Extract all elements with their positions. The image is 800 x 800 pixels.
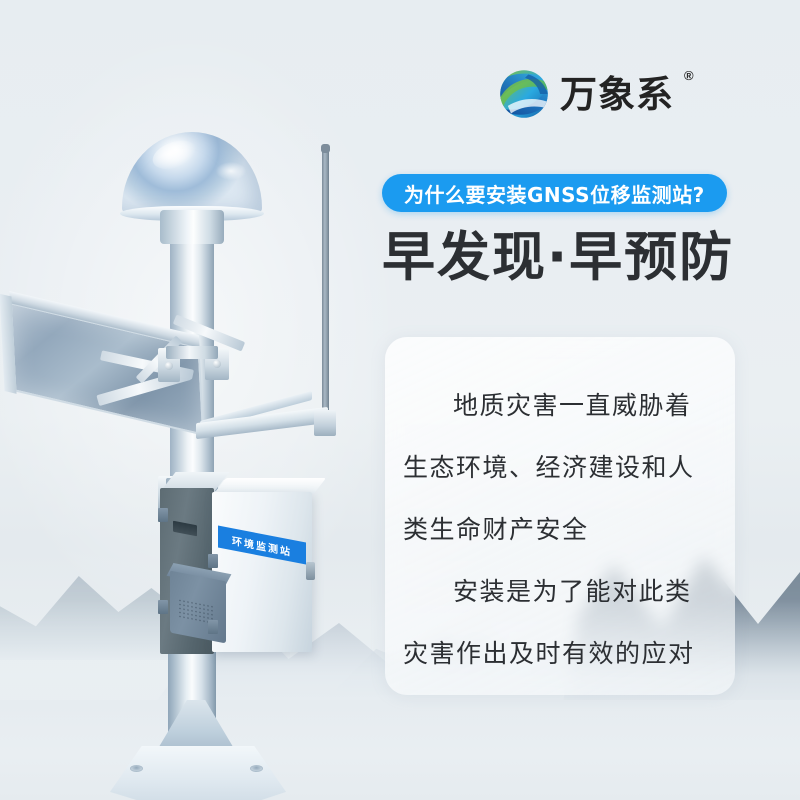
description-lines: 地质灾害一直威胁着生态环境、经济建设和人类生命财产安全安装是为了能对此类灾害作出… [385,337,735,695]
description-line: 生态环境、经济建设和人 [403,437,717,499]
question-badge-text: 为什么要安装GNSS位移监测站? [404,179,705,208]
page-title: 早发现·早预防 [382,228,734,289]
question-badge: 为什么要安装GNSS位移监测站? [382,174,727,212]
brand-logo: 万象系 ® [497,66,694,122]
description-line: 灾害作出及时有效的应对 [403,623,717,685]
promo-banner: 环境监测站 [0,0,800,800]
description-line: 安装是为了能对此类 [403,561,717,623]
description-line: 类生命财产安全 [403,499,717,561]
description-card: 地质灾害一直威胁着生态环境、经济建设和人类生命财产安全安装是为了能对此类灾害作出… [385,337,735,695]
content-column: 万象系 ® 为什么要安装GNSS位移监测站? 早发现·早预防 地质灾害一直威胁着… [0,0,800,800]
registered-trademark-icon: ® [684,68,694,83]
description-line: 地质灾害一直威胁着 [403,375,717,437]
globe-swirl-logo-icon [497,66,551,122]
brand-name: 万象系 [560,76,674,113]
